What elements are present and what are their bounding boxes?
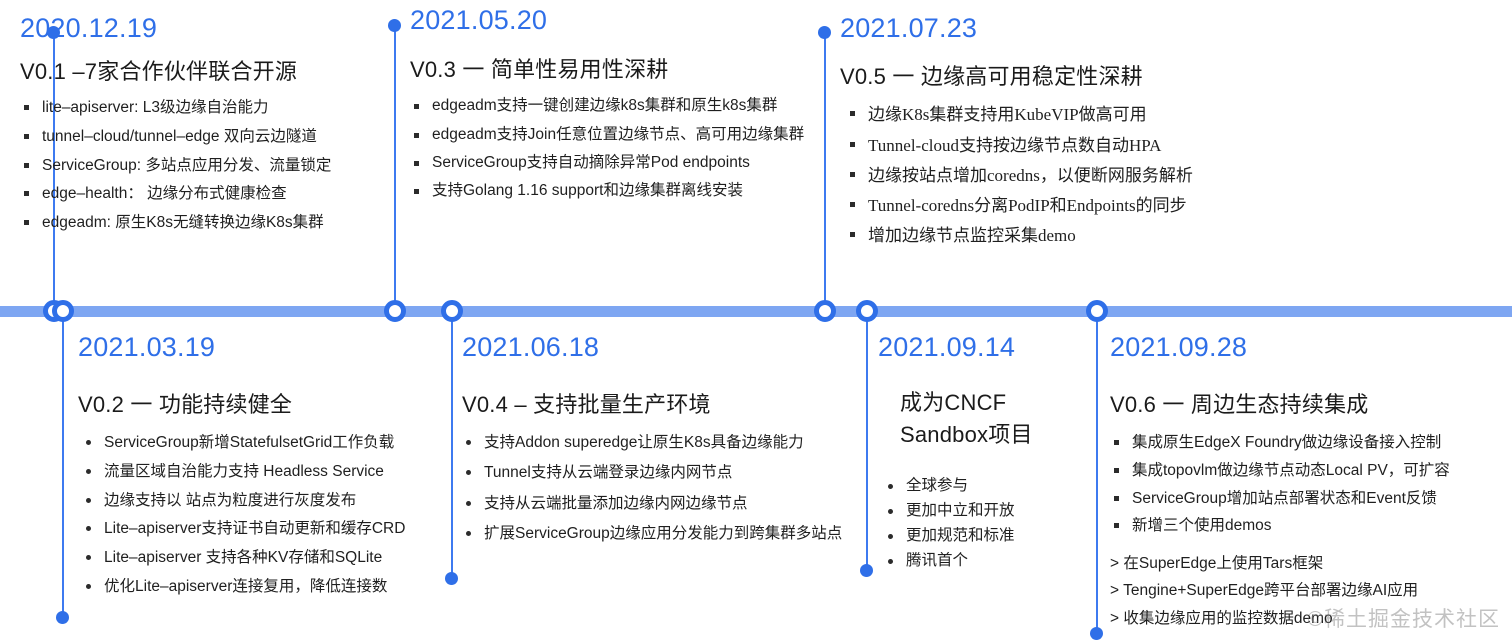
list-item: 新增三个使用demos xyxy=(1110,512,1505,540)
bullet-dot-icon xyxy=(466,470,471,475)
list-item: 增加边缘节点监控采集demo xyxy=(846,221,1240,251)
list-item-text: edge–health： 边缘分布式健康检查 xyxy=(42,185,287,202)
connector-cap-cncf xyxy=(860,564,873,577)
bullet-square-icon xyxy=(24,191,29,196)
milestone-heading: V0.1 –7家合作伙伴联合开源 xyxy=(20,54,380,86)
bullet-square-icon xyxy=(414,161,419,166)
milestone-card-v0-6: 2021.09.28 V0.6 一 周边生态持续集成 集成原生EdgeX Fou… xyxy=(1110,333,1505,632)
list-item-text: Tunnel-cloud支持按边缘节点数自动HPA xyxy=(868,136,1161,155)
list-item-text: edgeadm支持Join任意位置边缘节点、高可用边缘集群 xyxy=(432,126,804,143)
milestone-heading: 成为CNCF Sandbox项目 xyxy=(878,387,1093,451)
list-item-text: 边缘支持以 站点为粒度进行灰度发布 xyxy=(104,492,356,509)
milestone-date: 2021.07.23 xyxy=(840,14,1240,42)
list-item: ServiceGroup增加站点部署状态和Event反馈 xyxy=(1110,485,1505,513)
list-item: Lite–apiserver 支持各种KV存储和SQLite xyxy=(82,544,458,573)
timeline-node-v0-2[interactable] xyxy=(52,300,74,322)
bullet-square-icon xyxy=(1114,496,1119,501)
bullet-dot-icon xyxy=(466,440,471,445)
list-item-text: 支持Addon superedge让原生K8s具备边缘能力 xyxy=(484,434,804,451)
bullet-square-icon xyxy=(414,133,419,138)
list-item: 全球参与 xyxy=(884,473,1093,498)
list-item-text: 更加中立和开放 xyxy=(906,502,1015,519)
milestone-date: 2021.03.19 xyxy=(78,333,458,361)
list-item-text: Tunnel-coredns分离PodIP和Endpoints的同步 xyxy=(868,196,1187,215)
milestone-heading: V0.3 一 简单性易用性深耕 xyxy=(410,52,810,84)
list-item-text: 边缘K8s集群支持用KubeVIP做高可用 xyxy=(868,105,1147,124)
list-item: lite–apiserver: L3级边缘自治能力 xyxy=(20,94,380,123)
list-item: Tunnel-coredns分离PodIP和Endpoints的同步 xyxy=(846,191,1240,221)
bullet-dot-icon xyxy=(86,555,91,560)
list-item: 优化Lite–apiserver连接复用，降低连接数 xyxy=(82,573,458,602)
milestone-bullet-list: 支持Addon superedge让原生K8s具备边缘能力 Tunnel支持从云… xyxy=(462,429,857,547)
list-item: 集成原生EdgeX Foundry做边缘设备接入控制 xyxy=(1110,429,1505,457)
bullet-dot-icon xyxy=(888,559,893,564)
list-item-text: edgeadm: 原生K8s无缝转换边缘K8s集群 xyxy=(42,214,324,231)
bullet-dot-icon xyxy=(86,440,91,445)
list-item: edgeadm支持一键创建边缘k8s集群和原生k8s集群 xyxy=(410,93,810,119)
bullet-square-icon xyxy=(850,111,855,116)
sub-list-item: > Tengine+SuperEdge跨平台部署边缘AI应用 xyxy=(1110,577,1505,605)
connector-cap-v0-2 xyxy=(56,611,69,624)
list-item-text: 全球参与 xyxy=(906,477,968,494)
list-item-text: ServiceGroup: 多站点应用分发、流量锁定 xyxy=(42,157,331,174)
bullet-dot-icon xyxy=(466,531,471,536)
timeline-node-v0-4[interactable] xyxy=(441,300,463,322)
bullet-square-icon xyxy=(850,142,855,147)
list-item-text: Tunnel支持从云端登录边缘内网节点 xyxy=(484,464,732,481)
bullet-square-icon xyxy=(24,220,29,225)
bullet-square-icon xyxy=(24,134,29,139)
list-item: 更加规范和标准 xyxy=(884,523,1093,548)
list-item: ServiceGroup新增StatefulsetGrid工作负载 xyxy=(82,429,458,458)
list-item: 集成topovlm做边缘节点动态Local PV，可扩容 xyxy=(1110,457,1505,485)
timeline-node-v0-3[interactable] xyxy=(384,300,406,322)
bullet-square-icon xyxy=(1114,440,1119,445)
list-item-text: ServiceGroup新增StatefulsetGrid工作负载 xyxy=(104,434,394,451)
connector-cap-v0-1 xyxy=(47,26,60,39)
timeline-node-v0-6[interactable] xyxy=(1086,300,1108,322)
milestone-heading: V0.6 一 周边生态持续集成 xyxy=(1110,387,1505,419)
list-item: 流量区域自治能力支持 Headless Service xyxy=(82,458,458,487)
list-item-text: ServiceGroup增加站点部署状态和Event反馈 xyxy=(1132,490,1437,507)
list-item-text: 边缘按站点增加coredns，以便断网服务解析 xyxy=(868,166,1193,185)
milestone-bullet-list: 集成原生EdgeX Foundry做边缘设备接入控制 集成topovlm做边缘节… xyxy=(1110,429,1505,539)
list-item-text: 集成topovlm做边缘节点动态Local PV，可扩容 xyxy=(1132,462,1450,479)
connector-cncf xyxy=(866,312,868,570)
list-item: Lite–apiserver支持证书自动更新和缓存CRD xyxy=(82,515,458,544)
milestone-date: 2020.12.19 xyxy=(20,14,380,42)
list-item: 边缘按站点增加coredns，以便断网服务解析 xyxy=(846,161,1240,191)
milestone-date: 2021.06.18 xyxy=(462,333,857,361)
list-item: 支持Addon superedge让原生K8s具备边缘能力 xyxy=(462,429,857,456)
milestone-heading: V0.4 – 支持批量生产环境 xyxy=(462,387,857,419)
milestone-card-v0-3: 2021.05.20 V0.3 一 简单性易用性深耕 edgeadm支持一键创建… xyxy=(410,6,810,207)
milestone-bullet-list: 全球参与 更加中立和开放 更加规范和标准 腾讯首个 xyxy=(878,473,1093,573)
list-item: edge–health： 边缘分布式健康检查 xyxy=(20,180,380,209)
list-item: 支持从云端批量添加边缘内网边缘节点 xyxy=(462,490,857,517)
list-item: ServiceGroup支持自动摘除异常Pod endpoints xyxy=(410,150,810,176)
list-item-text: 集成原生EdgeX Foundry做边缘设备接入控制 xyxy=(1132,434,1441,451)
bullet-square-icon xyxy=(24,105,29,110)
milestone-card-v0-5: 2021.07.23 V0.5 一 边缘高可用稳定性深耕 边缘K8s集群支持用K… xyxy=(840,14,1240,252)
milestone-card-cncf: 2021.09.14 成为CNCF Sandbox项目 全球参与 更加中立和开放… xyxy=(878,333,1093,574)
timeline-infographic: 2020.12.19 V0.1 –7家合作伙伴联合开源 lite–apiserv… xyxy=(0,0,1512,641)
connector-cap-v0-4 xyxy=(445,572,458,585)
milestone-bullet-list: 边缘K8s集群支持用KubeVIP做高可用 Tunnel-cloud支持按边缘节… xyxy=(840,100,1240,251)
bullet-square-icon xyxy=(1114,468,1119,473)
list-item: Tunnel支持从云端登录边缘内网节点 xyxy=(462,459,857,486)
list-item-text: tunnel–cloud/tunnel–edge 双向云边隧道 xyxy=(42,128,317,145)
milestone-date: 2021.05.20 xyxy=(410,6,810,34)
list-item-text: Lite–apiserver支持证书自动更新和缓存CRD xyxy=(104,520,405,537)
list-item-text: 支持Golang 1.16 support和边缘集群离线安装 xyxy=(432,182,743,199)
connector-v0-6 xyxy=(1096,312,1098,633)
timeline-node-v0-5[interactable] xyxy=(814,300,836,322)
milestone-heading: V0.2 一 功能持续健全 xyxy=(78,387,458,419)
bullet-dot-icon xyxy=(888,534,893,539)
bullet-square-icon xyxy=(850,172,855,177)
list-item: 更加中立和开放 xyxy=(884,498,1093,523)
list-item-text: 扩展ServiceGroup边缘应用分发能力到跨集群多站点 xyxy=(484,525,842,542)
bullet-dot-icon xyxy=(888,484,893,489)
milestone-date: 2021.09.14 xyxy=(878,333,1093,361)
connector-cap-v0-5 xyxy=(818,26,831,39)
connector-v0-5 xyxy=(824,32,826,312)
bullet-square-icon xyxy=(24,163,29,168)
list-item: Tunnel-cloud支持按边缘节点数自动HPA xyxy=(846,131,1240,161)
connector-v0-2 xyxy=(62,312,64,617)
list-item: ServiceGroup: 多站点应用分发、流量锁定 xyxy=(20,152,380,181)
list-item: 扩展ServiceGroup边缘应用分发能力到跨集群多站点 xyxy=(462,520,857,547)
list-item: 边缘支持以 站点为粒度进行灰度发布 xyxy=(82,487,458,516)
bullet-square-icon xyxy=(414,104,419,109)
bullet-square-icon xyxy=(414,189,419,194)
milestone-bullet-list: edgeadm支持一键创建边缘k8s集群和原生k8s集群 edgeadm支持Jo… xyxy=(410,93,810,204)
list-item: tunnel–cloud/tunnel–edge 双向云边隧道 xyxy=(20,123,380,152)
timeline-node-cncf[interactable] xyxy=(856,300,878,322)
milestone-card-v0-2: 2021.03.19 V0.2 一 功能持续健全 ServiceGroup新增S… xyxy=(78,333,458,601)
sub-list-item: > 在SuperEdge上使用Tars框架 xyxy=(1110,550,1505,578)
milestone-card-v0-1: 2020.12.19 V0.1 –7家合作伙伴联合开源 lite–apiserv… xyxy=(20,14,380,238)
list-item-text: edgeadm支持一键创建边缘k8s集群和原生k8s集群 xyxy=(432,97,777,114)
milestone-heading: V0.5 一 边缘高可用稳定性深耕 xyxy=(840,59,1240,91)
list-item-text: Lite–apiserver 支持各种KV存储和SQLite xyxy=(104,549,382,566)
list-item-text: lite–apiserver: L3级边缘自治能力 xyxy=(42,99,269,116)
list-item: 腾讯首个 xyxy=(884,548,1093,573)
list-item-text: 支持从云端批量添加边缘内网边缘节点 xyxy=(484,495,748,512)
list-item-text: ServiceGroup支持自动摘除异常Pod endpoints xyxy=(432,154,750,171)
list-item-text: 流量区域自治能力支持 Headless Service xyxy=(104,463,384,480)
list-item-text: 增加边缘节点监控采集demo xyxy=(868,226,1076,245)
bullet-dot-icon xyxy=(86,498,91,503)
bullet-dot-icon xyxy=(466,501,471,506)
milestone-bullet-list: lite–apiserver: L3级边缘自治能力 tunnel–cloud/t… xyxy=(20,94,380,237)
list-item-text: 更加规范和标准 xyxy=(906,527,1015,544)
list-item-text: 腾讯首个 xyxy=(906,552,968,569)
list-item: 支持Golang 1.16 support和边缘集群离线安装 xyxy=(410,178,810,204)
bullet-dot-icon xyxy=(86,526,91,531)
list-item-text: 优化Lite–apiserver连接复用，降低连接数 xyxy=(104,578,387,595)
bullet-dot-icon xyxy=(888,509,893,514)
milestone-bullet-list: ServiceGroup新增StatefulsetGrid工作负载 流量区域自治… xyxy=(78,429,458,601)
connector-cap-v0-6 xyxy=(1090,627,1103,640)
list-item: edgeadm: 原生K8s无缝转换边缘K8s集群 xyxy=(20,209,380,238)
bullet-square-icon xyxy=(850,232,855,237)
connector-cap-v0-3 xyxy=(388,19,401,32)
milestone-card-v0-4: 2021.06.18 V0.4 – 支持批量生产环境 支持Addon super… xyxy=(462,333,857,550)
list-item: edgeadm支持Join任意位置边缘节点、高可用边缘集群 xyxy=(410,122,810,148)
milestone-date: 2021.09.28 xyxy=(1110,333,1505,361)
list-item-text: 新增三个使用demos xyxy=(1132,517,1272,534)
watermark: ©稀土掘金技术社区 xyxy=(1308,603,1500,633)
bullet-dot-icon xyxy=(86,469,91,474)
bullet-square-icon xyxy=(850,202,855,207)
bullet-dot-icon xyxy=(86,584,91,589)
bullet-square-icon xyxy=(1114,523,1119,528)
list-item: 边缘K8s集群支持用KubeVIP做高可用 xyxy=(846,100,1240,130)
timeline-axis xyxy=(0,306,1512,317)
connector-v0-3 xyxy=(394,25,396,312)
